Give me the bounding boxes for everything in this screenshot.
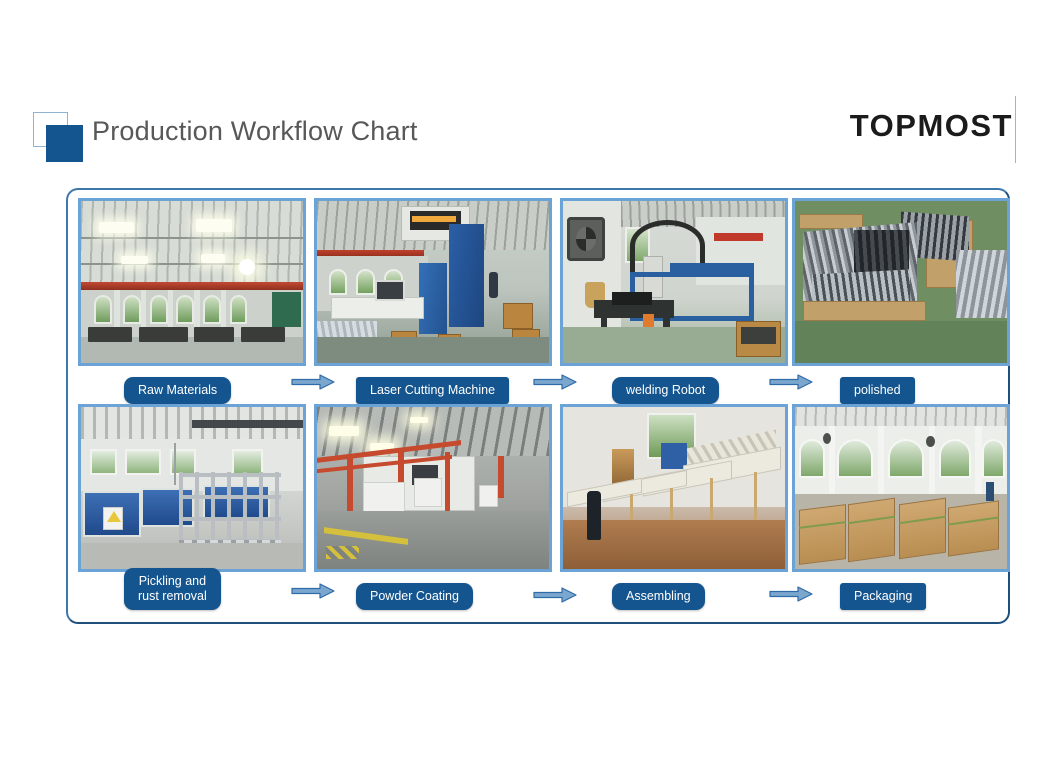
overlapping-squares-icon — [33, 112, 89, 162]
logo-square-solid — [46, 125, 83, 162]
photo-laser-cutting-machine — [314, 198, 552, 366]
workflow-row-2: Pickling and rust removal — [68, 396, 1012, 614]
photo-assembling — [560, 404, 788, 572]
photo-polished — [792, 198, 1010, 366]
workflow-step-polished[interactable]: polished — [792, 190, 1010, 408]
brand-logo: TOPMOST — [850, 104, 1013, 148]
right-arrow-icon — [769, 374, 813, 390]
right-arrow-icon — [291, 583, 335, 599]
right-arrow-icon — [769, 586, 813, 602]
step-label-powder-coating[interactable]: Powder Coating — [356, 583, 473, 610]
photo-powder-coating — [314, 404, 552, 572]
step-label-pickling-and-rust-removal[interactable]: Pickling and rust removal — [124, 568, 221, 610]
label-wrap: Pickling and rust removal — [124, 568, 221, 610]
photo-pickling-and-rust-removal — [78, 404, 306, 572]
workflow-step-pickling-and-rust-removal[interactable]: Pickling and rust removal — [78, 396, 306, 614]
label-wrap: Assembling — [612, 583, 705, 610]
right-arrow-icon — [533, 374, 577, 390]
workflow-step-laser-cutting-machine[interactable]: Laser Cutting Machine — [314, 190, 552, 408]
photo-packaging — [792, 404, 1010, 572]
step-label-assembling[interactable]: Assembling — [612, 583, 705, 610]
label-wrap: Packaging — [840, 583, 926, 610]
step-label-packaging[interactable]: Packaging — [840, 583, 926, 610]
page-title: Production Workflow Chart — [92, 112, 418, 150]
brand-divider — [1015, 96, 1016, 163]
workflow-step-packaging[interactable]: Packaging — [792, 396, 1010, 614]
slide-canvas: Production Workflow Chart TOPMOST — [0, 0, 1060, 762]
workflow-step-welding-robot[interactable]: welding Robot — [560, 190, 788, 408]
workflow-step-assembling[interactable]: Assembling — [560, 396, 788, 614]
label-wrap: Powder Coating — [356, 583, 473, 610]
workflow-frame: Raw Materials — [66, 188, 1010, 624]
right-arrow-icon — [533, 587, 577, 603]
workflow-step-powder-coating[interactable]: Powder Coating — [314, 396, 552, 614]
workflow-step-raw-materials[interactable]: Raw Materials — [78, 190, 306, 408]
right-arrow-icon — [291, 374, 335, 390]
photo-welding-robot — [560, 198, 788, 366]
brand-name: TOPMOST — [850, 108, 1013, 144]
photo-raw-materials — [78, 198, 306, 366]
